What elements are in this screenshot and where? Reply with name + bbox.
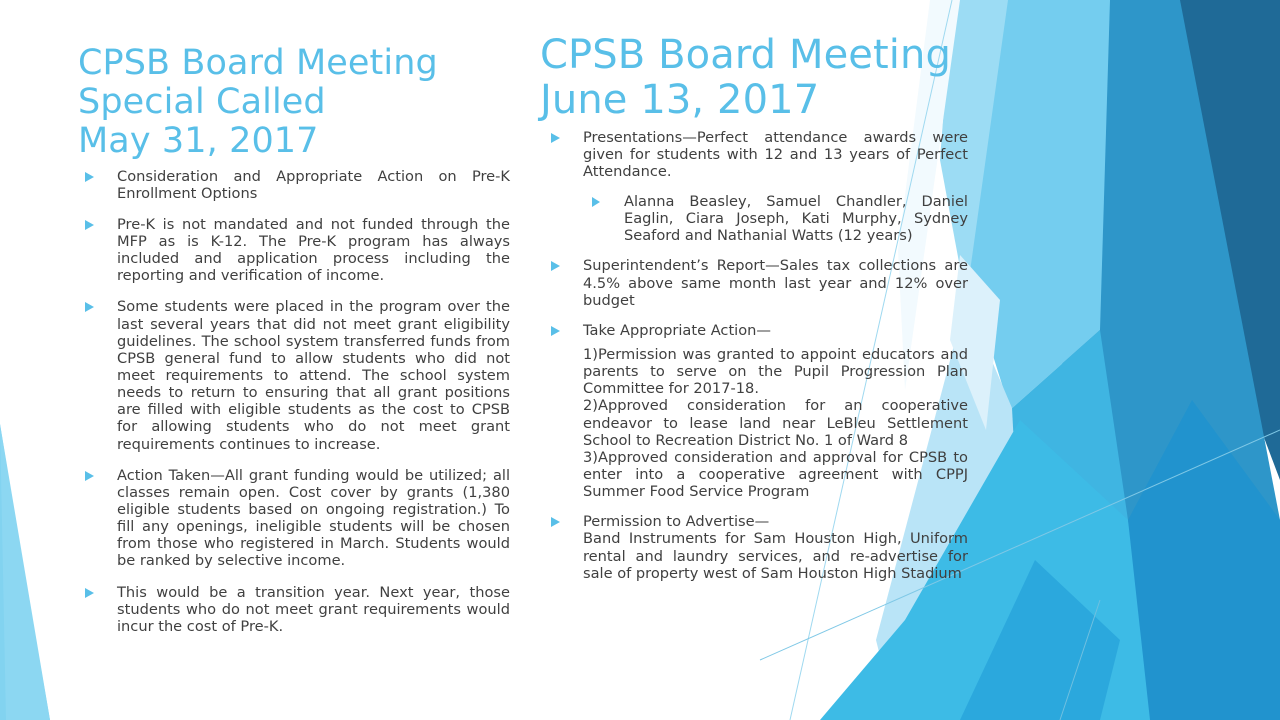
shape-right-dark-band (1168, 0, 1280, 480)
triangle-bullet-icon (85, 302, 94, 312)
list-item-text: Permission to Advertise— Band Instrument… (583, 513, 968, 582)
triangle-bullet-icon (85, 471, 94, 481)
list-item-text: Some students were placed in the program… (117, 298, 510, 452)
triangle-bullet-icon (85, 172, 94, 182)
right-content-column: CPSB Board Meeting June 13, 2017 Present… (536, 0, 968, 595)
shape-right-deep-band (1092, 0, 1216, 470)
shape-mid-triangle (1010, 330, 1128, 560)
slide-canvas: CPSB Board Meeting Special Called May 31… (0, 0, 1280, 720)
triangle-bullet-icon (85, 220, 94, 230)
list-item-text: Consideration and Appropriate Action on … (117, 168, 510, 202)
list-item: Some students were placed in the program… (70, 298, 510, 452)
triangle-bullet-icon (551, 326, 560, 336)
list-item: Superintendent’s Report—Sales tax collec… (536, 257, 968, 308)
list-item-text: Presentations—Perfect attendance awards … (583, 129, 968, 180)
left-title-line-2: Special Called (78, 83, 510, 122)
list-item: Presentations—Perfect attendance awards … (536, 129, 968, 180)
advertise-heading: Permission to Advertise— (583, 513, 968, 530)
list-item: Permission to Advertise— Band Instrument… (536, 513, 968, 582)
list-item-text: Action Taken—All grant funding would be … (117, 467, 510, 570)
left-bullet-list: Consideration and Appropriate Action on … (70, 168, 510, 635)
list-item-text: 1)Permission was granted to appoint educ… (583, 346, 968, 500)
list-item: Consideration and Appropriate Action on … (70, 168, 510, 202)
list-item-text: This would be a transition year. Next ye… (117, 584, 510, 635)
list-item: Take Appropriate Action— (536, 322, 968, 339)
right-title-line-1: CPSB Board Meeting (540, 33, 968, 78)
list-item: Action Taken—All grant funding would be … (70, 467, 510, 570)
action-line-3: 3)Approved consideration and approval fo… (583, 449, 968, 500)
triangle-bullet-icon (551, 517, 560, 527)
left-title-line-1: CPSB Board Meeting (78, 44, 510, 83)
shape-left-wedge (0, 424, 50, 720)
shape-top-light-panel (960, 0, 1110, 410)
shape-right-mid-sweep (1040, 0, 1280, 720)
list-item-text: Alanna Beasley, Samuel Chandler, Daniel … (624, 193, 968, 244)
list-item-sub: Alanna Beasley, Samuel Chandler, Daniel … (536, 193, 968, 244)
advertise-detail: Band Instruments for Sam Houston High, U… (583, 530, 968, 581)
shape-bottom-blue-overlay (1128, 400, 1280, 720)
list-item-text: Pre-K is not mandated and not funded thr… (117, 216, 510, 285)
triangle-bullet-icon (551, 261, 560, 271)
triangle-bullet-icon (551, 133, 560, 143)
action-line-2: 2)Approved consideration for an cooperat… (583, 397, 968, 448)
right-bullet-list: Presentations—Perfect attendance awards … (536, 129, 968, 582)
triangle-bullet-icon (592, 197, 600, 207)
triangle-bullet-icon (85, 588, 94, 598)
left-content-column: CPSB Board Meeting Special Called May 31… (70, 0, 510, 649)
list-item-continuation: 1)Permission was granted to appoint educ… (536, 346, 968, 500)
hairline-diagonal-lower (1060, 600, 1100, 720)
list-item-text: Take Appropriate Action— (583, 322, 968, 339)
list-item-text: Superintendent’s Report—Sales tax collec… (583, 257, 968, 308)
right-title-line-2: June 13, 2017 (540, 78, 968, 123)
right-slide-title: CPSB Board Meeting June 13, 2017 (536, 33, 968, 123)
list-item: This would be a transition year. Next ye… (70, 584, 510, 635)
left-title-line-3: May 31, 2017 (78, 122, 510, 161)
left-slide-title: CPSB Board Meeting Special Called May 31… (70, 44, 510, 162)
shape-left-wedge-inner (0, 424, 50, 720)
action-line-1: 1)Permission was granted to appoint educ… (583, 346, 968, 397)
list-item: Pre-K is not mandated and not funded thr… (70, 216, 510, 285)
shape-bottom-accent (960, 560, 1120, 720)
